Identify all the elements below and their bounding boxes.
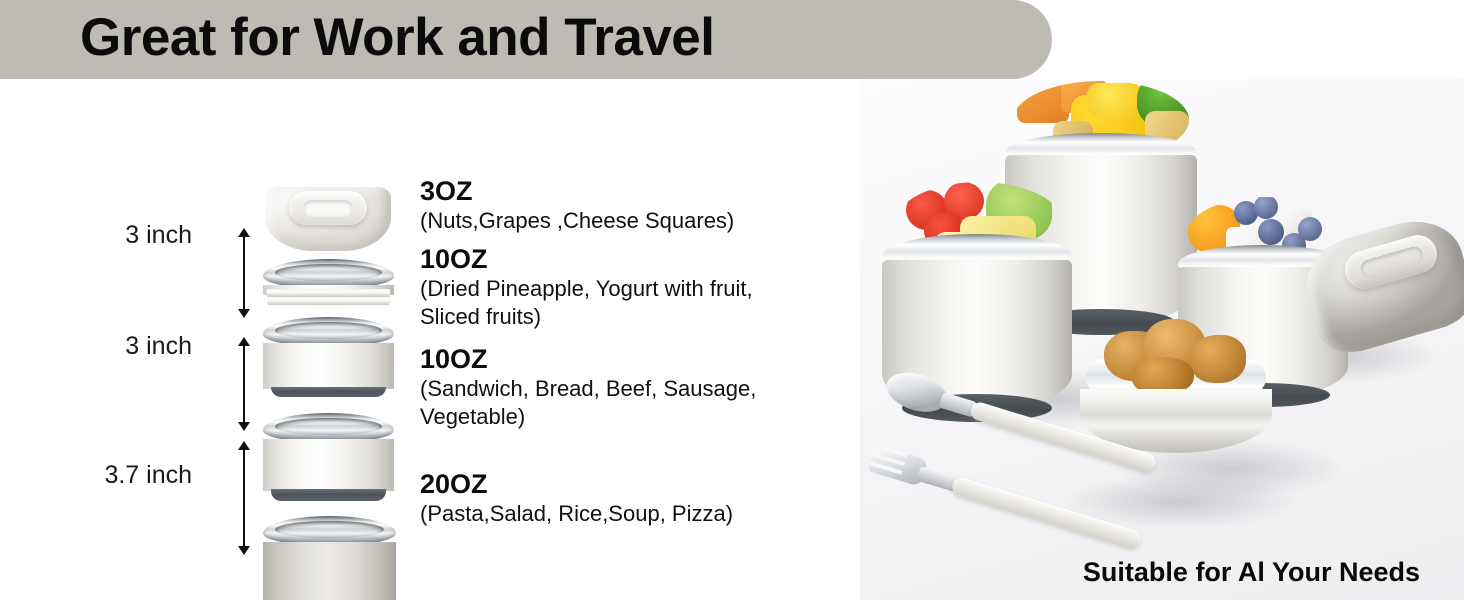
lid-with-handle <box>265 187 391 251</box>
rim-inner <box>275 521 384 538</box>
capacity-contents: (Dried Pineapple, Yogurt with fruit, Sli… <box>420 275 795 330</box>
capacity-title: 10OZ <box>420 344 780 375</box>
food-fried-chicken <box>1102 317 1252 399</box>
capacity-contents: (Nuts,Grapes ,Cheese Squares) <box>420 207 734 235</box>
capacity-block-3oz: 3OZ (Nuts,Grapes ,Cheese Squares) <box>420 176 734 235</box>
gasket-ring <box>271 387 386 397</box>
detached-lid <box>1308 229 1464 341</box>
capacity-title: 3OZ <box>420 176 734 207</box>
blueberry <box>1258 219 1284 245</box>
exploded-diagram: 3 inch 3 inch 3.7 inch 3OZ (Nuts,Grapes … <box>0 79 860 600</box>
container-20oz <box>263 516 396 600</box>
dimension-label-2: 3 inch <box>42 332 192 361</box>
gasket-ring <box>271 489 386 501</box>
screw-threads <box>267 289 390 309</box>
chicken-piece <box>1190 335 1246 383</box>
container-body <box>263 542 396 600</box>
capacity-block-10oz-upper: 10OZ (Dried Pineapple, Yogurt with fruit… <box>420 244 795 330</box>
rim-inner <box>275 418 382 435</box>
dimension-label-1: 3 inch <box>42 221 192 250</box>
blueberry <box>1254 197 1278 219</box>
dimension-arrow-1 <box>243 236 245 310</box>
spoon-bowl <box>882 366 952 419</box>
lid-dome <box>1296 209 1464 361</box>
product-photo: Suitable for Al Your Needs <box>860 79 1464 600</box>
container-10oz-lower <box>263 413 394 503</box>
capacity-block-20oz: 20OZ (Pasta,Salad, Rice,Soup, Pizza) <box>420 469 800 528</box>
capacity-title: 10OZ <box>420 244 795 275</box>
header-banner: Great for Work and Travel <box>0 0 1052 79</box>
container-body <box>263 343 394 389</box>
capacity-contents: (Pasta,Salad, Rice,Soup, Pizza) <box>420 500 800 528</box>
dimension-arrow-3 <box>243 449 245 547</box>
capacity-block-10oz-lower: 10OZ (Sandwich, Bread, Beef, Sausage, Ve… <box>420 344 780 430</box>
capacity-contents: (Sandwich, Bread, Beef, Sausage, Vegetab… <box>420 375 780 430</box>
lid-handle-hole <box>303 200 353 217</box>
corn-kernels <box>1087 83 1143 117</box>
page-title: Great for Work and Travel <box>80 7 715 68</box>
dimension-label-3: 3.7 inch <box>10 461 192 490</box>
container-3oz <box>263 259 394 309</box>
rim-inner <box>275 264 382 281</box>
container-body <box>263 439 394 491</box>
photo-caption: Suitable for Al Your Needs <box>1083 557 1420 588</box>
capacity-title: 20OZ <box>420 469 800 500</box>
dimension-arrow-2 <box>243 345 245 423</box>
rim-inner <box>275 322 382 339</box>
container-10oz-upper <box>263 317 394 397</box>
